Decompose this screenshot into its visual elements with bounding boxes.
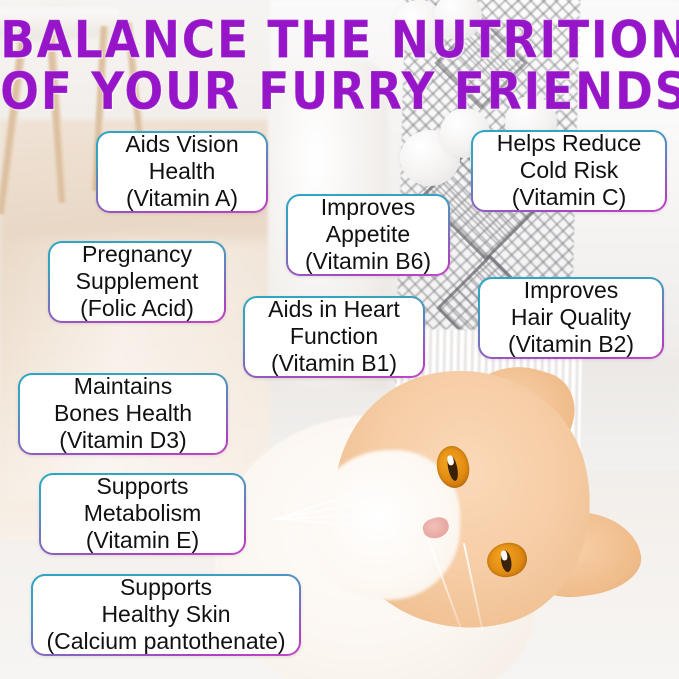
benefit-nutrient: (Vitamin B1) <box>255 350 413 377</box>
benefit-line: Helps Reduce <box>483 130 655 157</box>
benefit-line: Hair Quality <box>490 304 652 331</box>
benefit-line: Metabolism <box>51 500 234 527</box>
benefit-nutrient: (Vitamin B2) <box>490 331 652 358</box>
benefit-line: Supports <box>51 473 234 500</box>
benefit-callout-vitamin-e: Supports Metabolism (Vitamin E) <box>39 473 246 555</box>
benefit-callout-calcium-pantothenate: Supports Healthy Skin (Calcium pantothen… <box>31 574 301 656</box>
benefit-nutrient: (Vitamin E) <box>51 527 234 554</box>
benefit-line: Supplement <box>60 268 214 295</box>
benefit-nutrient: (Calcium pantothenate) <box>43 628 289 655</box>
benefit-line: Pregnancy <box>60 241 214 268</box>
benefit-callout-vitamin-d3: Maintains Bones Health (Vitamin D3) <box>18 373 228 455</box>
benefit-nutrient: (Vitamin A) <box>108 185 256 212</box>
benefit-callout-vitamin-a: Aids Vision Health (Vitamin A) <box>96 131 268 213</box>
benefit-line: Cold Risk <box>483 157 655 184</box>
benefit-line: Healthy Skin <box>43 601 289 628</box>
benefit-line: Function <box>255 323 413 350</box>
benefit-line: Health <box>108 158 256 185</box>
benefit-nutrient: (Vitamin B6) <box>298 248 438 275</box>
benefit-callout-vitamin-b6: Improves Appetite (Vitamin B6) <box>286 194 450 276</box>
benefit-line: Supports <box>43 574 289 601</box>
benefit-line: Appetite <box>298 221 438 248</box>
benefit-line: Improves <box>298 194 438 221</box>
benefit-line: Aids in Heart <box>255 296 413 323</box>
benefit-line: Improves <box>490 277 652 304</box>
benefit-nutrient: (Folic Acid) <box>60 295 214 322</box>
benefit-callout-vitamin-c: Helps Reduce Cold Risk (Vitamin C) <box>471 130 667 212</box>
benefit-line: Bones Health <box>30 400 216 427</box>
benefit-nutrient: (Vitamin D3) <box>30 427 216 454</box>
benefit-callout-vitamin-b1: Aids in Heart Function (Vitamin B1) <box>243 296 425 378</box>
benefit-line: Maintains <box>30 373 216 400</box>
benefit-callout-folic-acid: Pregnancy Supplement (Folic Acid) <box>48 241 226 323</box>
benefit-nutrient: (Vitamin C) <box>483 184 655 211</box>
headline: BALANCE THE NUTRITION OF YOUR FURRY FRIE… <box>0 14 679 117</box>
benefit-callout-vitamin-b2: Improves Hair Quality (Vitamin B2) <box>478 277 664 359</box>
product-infographic-poster: BALANCE THE NUTRITION OF YOUR FURRY FRIE… <box>0 0 679 679</box>
benefit-line: Aids Vision <box>108 131 256 158</box>
headline-line-2: OF YOUR FURRY FRIENDS... <box>0 66 679 118</box>
